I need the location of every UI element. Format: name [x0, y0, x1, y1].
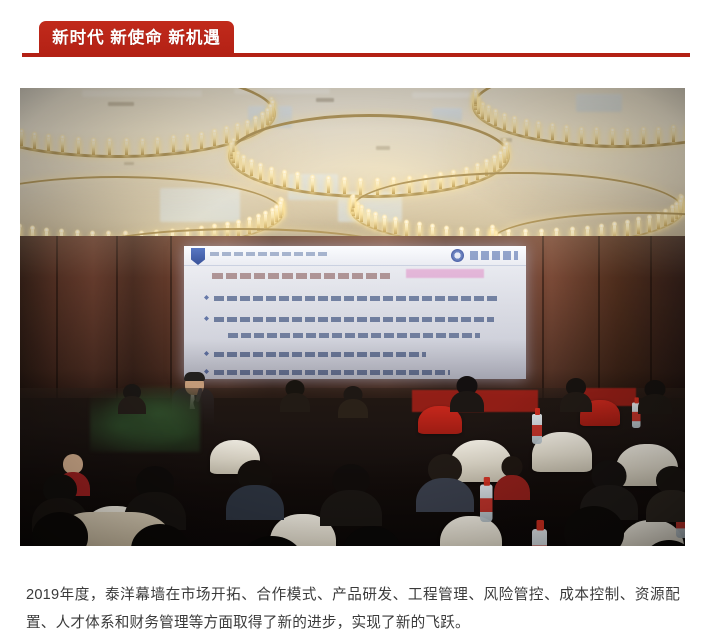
chandelier-candles	[475, 88, 685, 145]
header-banner-label: 新时代 新使命 新机遇	[52, 30, 221, 47]
conference-photo: Welldo	[20, 88, 685, 546]
speaker-hair	[184, 372, 205, 381]
header-banner-tab: 新时代 新使命 新机遇	[39, 21, 234, 56]
projection-screen	[184, 246, 526, 379]
photo-caption: 2019年度，泰洋幕墙在市场开拓、合作模式、产品研发、工程管理、风险管控、成本控…	[26, 581, 680, 637]
header-divider-rule	[22, 53, 690, 57]
page-header: 新时代 新使命 新机遇	[0, 0, 705, 70]
attendee-red-right	[494, 456, 530, 500]
